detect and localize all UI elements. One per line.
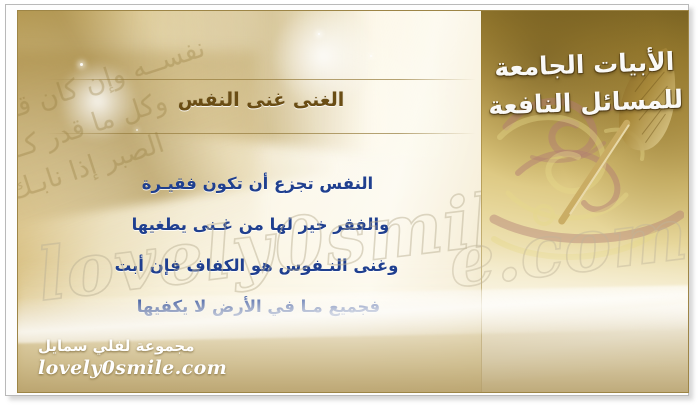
gold-streak-2	[129, 10, 467, 162]
divider-bottom	[46, 133, 476, 134]
verse-block: النفس تجزع أن تكون فقيـرة والفقر خير لها…	[38, 163, 483, 327]
verse-line: والفقر خير لها من غـنى يطغيها	[38, 204, 483, 245]
verse-line: وغنى النـفوس هو الكفاف فإن أبت	[38, 245, 483, 286]
verse-line: فجميع مـا في الأرض لا يكفيها	[38, 286, 483, 327]
brand-arabic: مجموعة لفلي سمايل	[38, 336, 368, 356]
verse-line: النفس تجزع أن تكون فقيـرة	[38, 163, 483, 204]
quill-pen-icon	[556, 35, 688, 233]
light-glow-1	[248, 10, 398, 131]
brand-block: مجموعة لفلي سمايل lovely0smile.com	[38, 336, 368, 380]
decorative-side-panel: الأبيات الجامعة للمسائل النافعة	[481, 11, 688, 393]
outer-frame: نفســه وإن كان قليلا وكل ما قدر كـل الصب…	[0, 0, 700, 410]
brand-url: lovely0smile.com	[38, 356, 368, 380]
greeting-card: نفســه وإن كان قليلا وكل ما قدر كـل الصب…	[17, 10, 689, 393]
card-heading: الغنى غنى النفس	[46, 89, 476, 111]
divider-top	[46, 79, 476, 80]
sparkle-dot	[136, 129, 138, 131]
sparkle-dot	[318, 33, 320, 35]
sparkle-dot	[370, 55, 372, 57]
sparkle-dot	[80, 63, 83, 66]
